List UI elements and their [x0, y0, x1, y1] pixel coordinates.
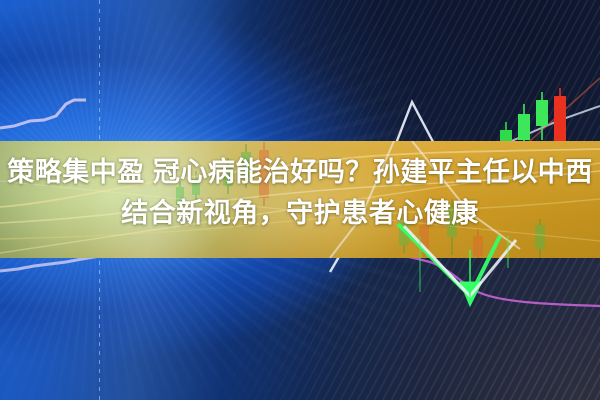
headline-line-2: 结合新视角，守护患者心健康 [0, 193, 600, 234]
headline-line-1: 策略集中盈 冠心病能治好吗？孙建平主任以中西 [0, 152, 600, 193]
stock-themed-article-banner: 策略集中盈 冠心病能治好吗？孙建平主任以中西 结合新视角，守护患者心健康 [0, 0, 600, 400]
banner-headline: 策略集中盈 冠心病能治好吗？孙建平主任以中西 结合新视角，守护患者心健康 [0, 152, 600, 234]
